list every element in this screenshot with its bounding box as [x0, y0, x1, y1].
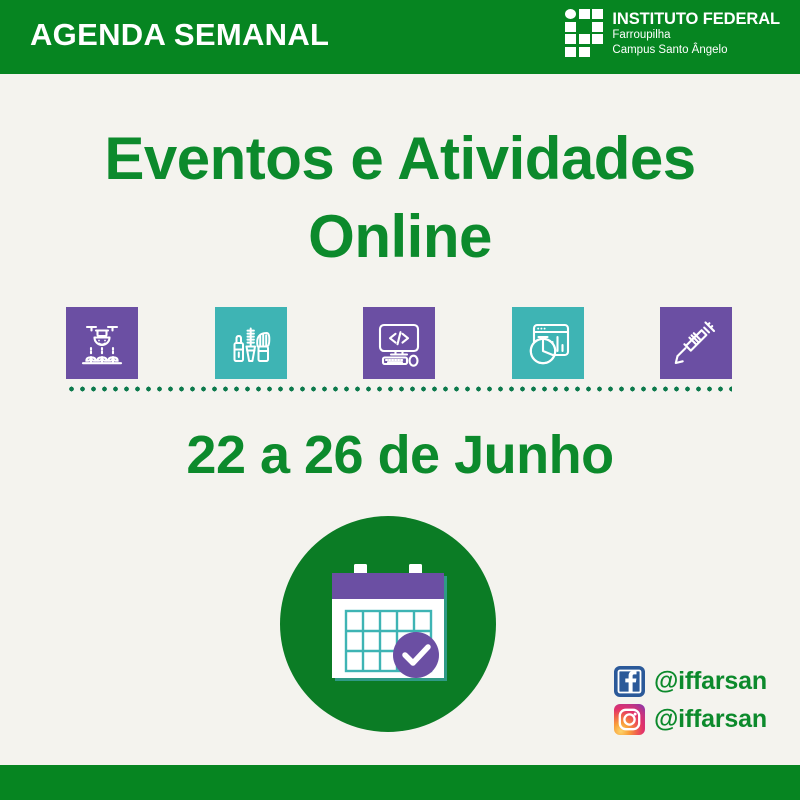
- brand-line-1: INSTITUTO FEDERAL: [612, 11, 780, 28]
- analytics-dashboard-icon: [523, 318, 573, 368]
- instagram-handle[interactable]: @iffarsan: [654, 707, 767, 732]
- social-row-instagram[interactable]: @iffarsan: [614, 702, 790, 736]
- header-bar: AGENDA SEMANAL INSTITUTO FEDERAL Farroup…: [0, 0, 800, 74]
- icon-tile-analytics: [512, 307, 584, 379]
- brand-line-2: Farroupilha: [612, 28, 780, 42]
- instituto-federal-grid-logo-icon: [565, 9, 603, 57]
- syringe-vaccine-icon: [671, 318, 721, 368]
- footer-bar: [0, 765, 800, 800]
- headline-line-2: Online: [0, 198, 800, 276]
- code-monitor-icon: [374, 318, 424, 368]
- agriculture-drone-icon: [77, 318, 127, 368]
- brand-lockup: INSTITUTO FEDERAL Farroupilha Campus San…: [565, 9, 780, 57]
- facebook-handle[interactable]: @iffarsan: [654, 669, 767, 694]
- page-title: AGENDA SEMANAL: [30, 19, 329, 50]
- headline-line-1: Eventos e Atividades: [0, 120, 800, 198]
- icon-tile-agriculture-drone: [66, 307, 138, 379]
- calendar-check-icon: [280, 516, 496, 732]
- icon-tile-programming: [363, 307, 435, 379]
- instagram-icon[interactable]: [614, 704, 645, 735]
- date-range: 22 a 26 de Junho: [0, 424, 800, 486]
- headline: Eventos e Atividades Online: [0, 120, 800, 276]
- brand-text: INSTITUTO FEDERAL Farroupilha Campus San…: [612, 9, 780, 57]
- social-row-facebook[interactable]: @iffarsan: [614, 664, 790, 698]
- theme-icon-strip: [66, 307, 732, 379]
- brand-line-3: Campus Santo Ângelo: [612, 43, 780, 57]
- icon-tile-vaccine: [660, 307, 732, 379]
- dotted-divider: [66, 386, 732, 392]
- cosmetics-makeup-icon: [226, 318, 276, 368]
- social-links: @iffarsan @iffarsan: [614, 664, 790, 740]
- facebook-icon[interactable]: [614, 666, 645, 697]
- calendar-badge: [280, 516, 496, 732]
- icon-tile-cosmetics: [215, 307, 287, 379]
